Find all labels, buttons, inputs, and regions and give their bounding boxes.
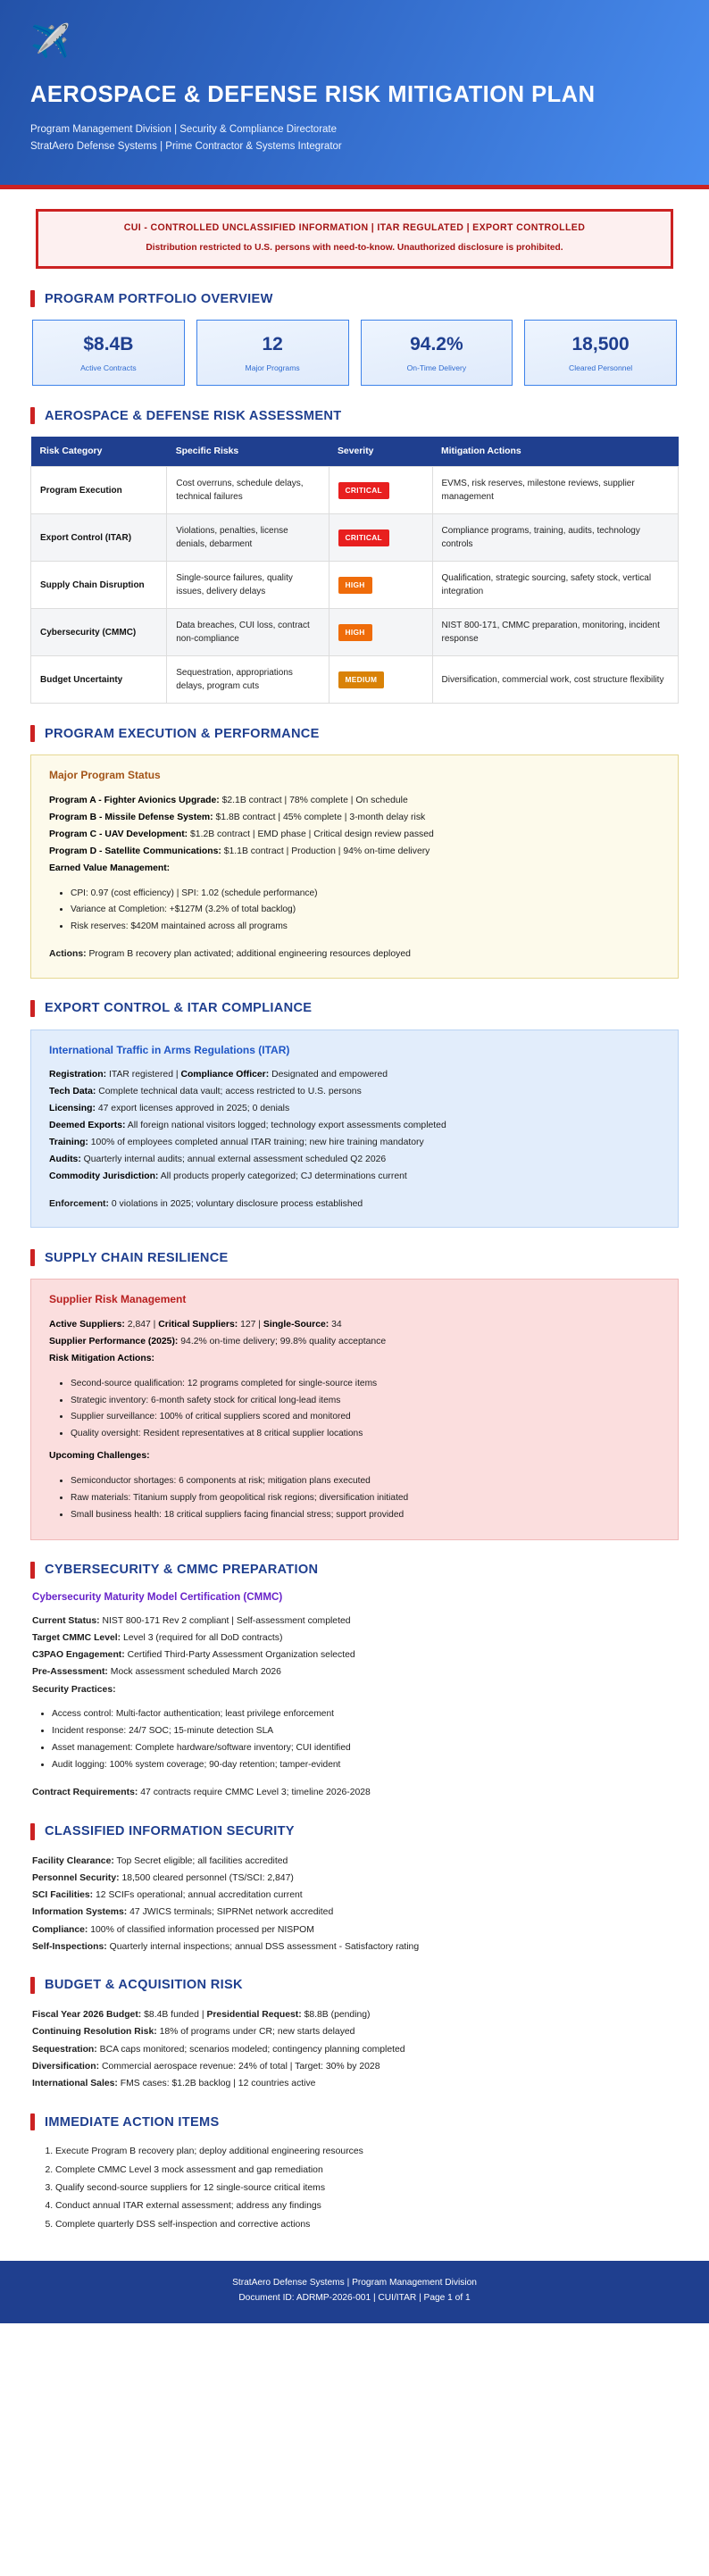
kv-label-2: Compliance Officer: xyxy=(180,1070,269,1080)
footer-organization: StratAero Defense Systems | Program Mana… xyxy=(9,2276,700,2291)
stat-value: 12 xyxy=(203,334,343,354)
cell-risk-category: Program Execution xyxy=(31,467,167,514)
itar-detail-lines: Registration: ITAR registered | Complian… xyxy=(49,1067,660,1186)
kv-label: Information Systems: xyxy=(32,1907,127,1917)
list-item: Variance at Completion: +$127M (3.2% of … xyxy=(71,902,660,919)
kv-value-2: $8.8B (pending) xyxy=(302,2010,371,2020)
section-accent-bar xyxy=(30,1562,35,1579)
page-title: AEROSPACE & DEFENSE RISK MITIGATION PLAN xyxy=(30,82,679,107)
list-item: Raw materials: Titanium supply from geop… xyxy=(71,1490,660,1507)
section-accent-bar xyxy=(30,1977,35,1994)
kv-value: All products properly categorized; CJ de… xyxy=(158,1171,406,1181)
kv-line: Diversification: Commercial aerospace re… xyxy=(32,2058,677,2075)
kv-line: Target CMMC Level: Level 3 (required for… xyxy=(32,1630,677,1646)
kv-line: Fiscal Year 2026 Budget: $8.4B funded | … xyxy=(32,2006,677,2023)
kv-value: $2.1B contract | 78% complete | On sched… xyxy=(220,796,408,805)
classified-detail-lines: Facility Clearance: Top Secret eligible;… xyxy=(30,1853,679,1956)
cui-banner-distribution: Distribution restricted to U.S. persons … xyxy=(62,242,647,255)
kv-line: Pre-Assessment: Mock assessment schedule… xyxy=(32,1663,677,1680)
kv-label-2: Critical Suppliers: xyxy=(158,1320,238,1330)
panel-major-program-status: Major Program Status Program A - Fighter… xyxy=(30,754,679,978)
status-badge: MEDIUM xyxy=(338,671,385,688)
stat-value: 18,500 xyxy=(530,334,671,354)
section-cybersecurity-cmmc: CYBERSECURITY & CMMC PREPARATION Cyberse… xyxy=(30,1562,679,1802)
panel-supplier-risk: Supplier Risk Management Active Supplier… xyxy=(30,1279,679,1539)
header-subtitle-line2: StratAero Defense Systems | Prime Contra… xyxy=(30,138,679,155)
list-item: Small business health: 18 critical suppl… xyxy=(71,1507,660,1524)
list-item: Access control: Multi-factor authenticat… xyxy=(52,1706,679,1723)
kv-value: Top Secret eligible; all facilities accr… xyxy=(114,1856,288,1866)
kv-label: Tech Data: xyxy=(49,1087,96,1096)
kv-value: 12 SCIFs operational; annual accreditati… xyxy=(93,1890,303,1900)
kv-line: Supplier Performance (2025): 94.2% on-ti… xyxy=(49,1334,660,1351)
list-item: Quality oversight: Resident representati… xyxy=(71,1426,660,1443)
subheading-cmmc: Cybersecurity Maturity Model Certificati… xyxy=(30,1591,679,1603)
kv-label: Pre-Assessment: xyxy=(32,1667,108,1677)
section-header: BUDGET & ACQUISITION RISK xyxy=(30,1977,679,1994)
kv-value: Program B recovery plan activated; addit… xyxy=(87,949,411,959)
table-row: Supply Chain Disruption Single-source fa… xyxy=(31,562,679,609)
kv-label: Deemed Exports: xyxy=(49,1121,125,1130)
footer-document-id: Document ID: ADRMP-2026-001 | CUI/ITAR |… xyxy=(9,2291,700,2306)
kv-label: Facility Clearance: xyxy=(32,1856,114,1866)
cell-severity: CRITICAL xyxy=(329,467,432,514)
kv-label: Security Practices: xyxy=(32,1685,116,1695)
section-risk-assessment: AEROSPACE & DEFENSE RISK ASSESSMENT Risk… xyxy=(30,407,679,704)
table-row: Cybersecurity (CMMC) Data breaches, CUI … xyxy=(31,609,679,656)
kv-label: Contract Requirements: xyxy=(32,1788,138,1797)
kv-label: Licensing: xyxy=(49,1104,96,1113)
kv-value: 100% of employees completed annual ITAR … xyxy=(88,1138,424,1147)
kv-value: Commercial aerospace revenue: 24% of tot… xyxy=(99,2062,380,2072)
section-title-export-control: EXPORT CONTROL & ITAR COMPLIANCE xyxy=(45,1002,312,1015)
table-row: Budget Uncertainty Sequestration, approp… xyxy=(31,656,679,704)
program-actions-line: Actions: Program B recovery plan activat… xyxy=(49,946,660,963)
kv-line: Deemed Exports: All foreign national vis… xyxy=(49,1118,660,1135)
kv-value: Certified Third-Party Assessment Organiz… xyxy=(125,1650,355,1660)
kv-label-2: Presidential Request: xyxy=(206,2010,301,2020)
kv-line: Tech Data: Complete technical data vault… xyxy=(49,1084,660,1101)
airplane-icon: ✈️ xyxy=(30,25,679,57)
kv-label-3: Single-Source: xyxy=(263,1320,329,1330)
page-body: CUI - CONTROLLED UNCLASSIFIED INFORMATIO… xyxy=(0,209,709,2234)
program-status-lines: Program A - Fighter Avionics Upgrade: $2… xyxy=(49,793,660,878)
cell-risk-category: Cybersecurity (CMMC) xyxy=(31,609,167,656)
stat-card-cleared-personnel: 18,500 Cleared Personnel xyxy=(524,320,677,386)
section-accent-bar xyxy=(30,407,35,424)
kv-value: 2,847 | xyxy=(125,1320,158,1330)
kv-value-2: 127 | xyxy=(238,1320,263,1330)
section-title-supply-chain: SUPPLY CHAIN RESILIENCE xyxy=(45,1252,229,1265)
panel-title: Major Program Status xyxy=(49,769,660,781)
cell-mitigation: Compliance programs, training, audits, t… xyxy=(432,514,679,562)
kv-label: Registration: xyxy=(49,1070,106,1080)
supplier-detail-lines: Active Suppliers: 2,847 | Critical Suppl… xyxy=(49,1317,660,1368)
kv-label: Fiscal Year 2026 Budget: xyxy=(32,2010,141,2020)
kv-label: Diversification: xyxy=(32,2062,99,2072)
section-accent-bar xyxy=(30,1823,35,1840)
list-item: Semiconductor shortages: 6 components at… xyxy=(71,1473,660,1490)
upcoming-challenges-heading: Upcoming Challenges: xyxy=(49,1448,660,1465)
section-title-portfolio: PROGRAM PORTFOLIO OVERVIEW xyxy=(45,293,273,306)
security-practices-bullet-list: Access control: Multi-factor authenticat… xyxy=(30,1706,679,1774)
cell-specific-risks: Cost overruns, schedule delays, technica… xyxy=(167,467,329,514)
kv-line: Training: 100% of employees completed an… xyxy=(49,1135,660,1152)
kv-label: Commodity Jurisdiction: xyxy=(49,1171,158,1181)
section-title-cybersecurity: CYBERSECURITY & CMMC PREPARATION xyxy=(45,1563,318,1577)
kv-value: $8.4B funded | xyxy=(141,2010,206,2020)
list-item: Qualify second-source suppliers for 12 s… xyxy=(55,2180,679,2197)
section-program-execution: PROGRAM EXECUTION & PERFORMANCE Major Pr… xyxy=(30,725,679,978)
kv-value-2: Designated and empowered xyxy=(269,1070,388,1080)
list-item: Risk reserves: $420M maintained across a… xyxy=(71,919,660,936)
section-header: AEROSPACE & DEFENSE RISK ASSESSMENT xyxy=(30,407,679,424)
section-header: IMMEDIATE ACTION ITEMS xyxy=(30,2113,679,2130)
kv-line: Continuing Resolution Risk: 18% of progr… xyxy=(32,2023,677,2040)
kv-line: Compliance: 100% of classified informati… xyxy=(32,1922,677,1938)
kv-value: 47 contracts require CMMC Level 3; timel… xyxy=(138,1788,370,1797)
stat-card-active-contracts: $8.4B Active Contracts xyxy=(32,320,185,386)
kv-value: 47 JWICS terminals; SIPRNet network accr… xyxy=(127,1907,333,1917)
kv-value: $1.8B contract | 45% complete | 3-month … xyxy=(213,813,426,822)
kv-value: BCA caps monitored; scenarios modeled; c… xyxy=(97,2045,405,2055)
kv-line: Earned Value Management: xyxy=(49,861,660,878)
kv-line: C3PAO Engagement: Certified Third-Party … xyxy=(32,1646,677,1663)
kv-value: Mock assessment scheduled March 2026 xyxy=(108,1667,281,1677)
kv-label: Enforcement: xyxy=(49,1199,109,1209)
kv-value: $1.2B contract | EMD phase | Critical de… xyxy=(188,829,434,839)
kv-label: Risk Mitigation Actions: xyxy=(49,1354,154,1363)
budget-detail-lines: Fiscal Year 2026 Budget: $8.4B funded | … xyxy=(30,2006,679,2092)
stat-value: $8.4B xyxy=(38,334,179,354)
section-accent-bar xyxy=(30,290,35,307)
kv-label: Active Suppliers: xyxy=(49,1320,125,1330)
cell-mitigation: NIST 800-171, CMMC preparation, monitori… xyxy=(432,609,679,656)
stat-label: On-Time Delivery xyxy=(367,363,507,372)
list-item: CPI: 0.97 (cost efficiency) | SPI: 1.02 … xyxy=(71,886,660,903)
header-subtitle-line1: Program Management Division | Security &… xyxy=(30,121,679,138)
kv-value: Level 3 (required for all DoD contracts) xyxy=(121,1633,282,1643)
status-badge: HIGH xyxy=(338,577,372,593)
kv-line: Security Practices: xyxy=(32,1681,677,1698)
contract-requirements-line: Contract Requirements: 47 contracts requ… xyxy=(30,1784,679,1801)
kv-label: Supplier Performance (2025): xyxy=(49,1337,178,1346)
kv-value: Quarterly internal inspections; annual D… xyxy=(107,1942,419,1952)
cell-severity: HIGH xyxy=(329,562,432,609)
section-supply-chain: SUPPLY CHAIN RESILIENCE Supplier Risk Ma… xyxy=(30,1249,679,1539)
kv-label: Continuing Resolution Risk: xyxy=(32,2027,157,2037)
kv-value: Complete technical data vault; access re… xyxy=(96,1087,361,1096)
panel-title: Supplier Risk Management xyxy=(49,1293,660,1305)
stat-card-group: $8.4B Active Contracts 12 Major Programs… xyxy=(30,320,679,386)
section-accent-bar xyxy=(30,2113,35,2130)
kv-label: Upcoming Challenges: xyxy=(49,1451,150,1461)
cmmc-detail-lines: Current Status: NIST 800-171 Rev 2 compl… xyxy=(30,1613,679,1698)
document-header: ✈️ AEROSPACE & DEFENSE RISK MITIGATION P… xyxy=(0,0,709,189)
kv-line: International Sales: FMS cases: $1.2B ba… xyxy=(32,2075,677,2092)
section-title-risk-assessment: AEROSPACE & DEFENSE RISK ASSESSMENT xyxy=(45,410,341,423)
kv-value-3: 34 xyxy=(329,1320,341,1330)
kv-label: Program C - UAV Development: xyxy=(49,829,188,839)
section-title-program-execution: PROGRAM EXECUTION & PERFORMANCE xyxy=(45,728,320,741)
cell-specific-risks: Sequestration, appropriations delays, pr… xyxy=(167,656,329,704)
kv-line: Risk Mitigation Actions: xyxy=(49,1351,660,1368)
kv-label: Personnel Security: xyxy=(32,1873,120,1883)
stat-label: Cleared Personnel xyxy=(530,363,671,372)
column-header-severity: Severity xyxy=(329,437,432,467)
list-item: Second-source qualification: 12 programs… xyxy=(71,1376,660,1393)
column-header-specific-risks: Specific Risks xyxy=(167,437,329,467)
kv-label: C3PAO Engagement: xyxy=(32,1650,125,1660)
kv-value: 100% of classified information processed… xyxy=(88,1925,314,1935)
kv-label: Program B - Missile Defense System: xyxy=(49,813,213,822)
cell-risk-category: Supply Chain Disruption xyxy=(31,562,167,609)
cell-risk-category: Budget Uncertainty xyxy=(31,656,167,704)
list-item: Complete quarterly DSS self-inspection a… xyxy=(55,2216,679,2234)
cell-mitigation: Diversification, commercial work, cost s… xyxy=(432,656,679,704)
list-item: Supplier surveillance: 100% of critical … xyxy=(71,1409,660,1426)
kv-line: Program C - UAV Development: $1.2B contr… xyxy=(49,827,660,844)
kv-label: Program D - Satellite Communications: xyxy=(49,846,221,856)
itar-enforcement-line: Enforcement: 0 violations in 2025; volun… xyxy=(49,1196,660,1213)
section-header: CLASSIFIED INFORMATION SECURITY xyxy=(30,1823,679,1840)
cell-mitigation: EVMS, risk reserves, milestone reviews, … xyxy=(432,467,679,514)
kv-value: 0 violations in 2025; voluntary disclosu… xyxy=(109,1199,363,1209)
kv-line: Self-Inspections: Quarterly internal ins… xyxy=(32,1938,677,1955)
kv-line: Current Status: NIST 800-171 Rev 2 compl… xyxy=(32,1613,677,1630)
kv-label: Current Status: xyxy=(32,1616,100,1626)
section-header: CYBERSECURITY & CMMC PREPARATION xyxy=(30,1562,679,1579)
kv-line: Information Systems: 47 JWICS terminals;… xyxy=(32,1904,677,1921)
cell-specific-risks: Single-source failures, quality issues, … xyxy=(167,562,329,609)
stat-card-major-programs: 12 Major Programs xyxy=(196,320,349,386)
section-classified-information-security: CLASSIFIED INFORMATION SECURITY Facility… xyxy=(30,1823,679,1956)
column-header-risk-category: Risk Category xyxy=(31,437,167,467)
mitigation-bullet-list: Second-source qualification: 12 programs… xyxy=(49,1376,660,1444)
kv-label: Earned Value Management: xyxy=(49,863,170,873)
action-items-list: Execute Program B recovery plan; deploy … xyxy=(30,2143,679,2233)
document-footer: StratAero Defense Systems | Program Mana… xyxy=(0,2261,709,2323)
kv-label: Self-Inspections: xyxy=(32,1942,107,1952)
risk-assessment-table: Risk Category Specific Risks Severity Mi… xyxy=(30,437,679,704)
kv-line: Personnel Security: 18,500 cleared perso… xyxy=(32,1870,677,1887)
section-budget-acquisition-risk: BUDGET & ACQUISITION RISK Fiscal Year 20… xyxy=(30,1977,679,2092)
status-badge: CRITICAL xyxy=(338,482,389,498)
kv-value: NIST 800-171 Rev 2 compliant | Self-asse… xyxy=(100,1616,351,1626)
list-item: Conduct annual ITAR external assessment;… xyxy=(55,2197,679,2215)
kv-label: International Sales: xyxy=(32,2079,118,2088)
kv-value: 94.2% on-time delivery; 99.8% quality ac… xyxy=(178,1337,386,1346)
kv-line: Program B - Missile Defense System: $1.8… xyxy=(49,810,660,827)
kv-label: SCI Facilities: xyxy=(32,1890,93,1900)
kv-line: Program D - Satellite Communications: $1… xyxy=(49,844,660,861)
kv-line: Active Suppliers: 2,847 | Critical Suppl… xyxy=(49,1317,660,1334)
kv-label: Program A - Fighter Avionics Upgrade: xyxy=(49,796,220,805)
table-row: Program Execution Cost overruns, schedul… xyxy=(31,467,679,514)
list-item: Audit logging: 100% system coverage; 90-… xyxy=(52,1757,679,1774)
kv-value: ITAR registered | xyxy=(106,1070,180,1080)
list-item: Execute Program B recovery plan; deploy … xyxy=(55,2143,679,2161)
kv-value: 47 export licenses approved in 2025; 0 d… xyxy=(96,1104,289,1113)
section-accent-bar xyxy=(30,1000,35,1017)
kv-value: 18,500 cleared personnel (TS/SCI: 2,847) xyxy=(120,1873,294,1883)
kv-line: Sequestration: BCA caps monitored; scena… xyxy=(32,2041,677,2058)
section-header: SUPPLY CHAIN RESILIENCE xyxy=(30,1249,679,1266)
section-title-classified: CLASSIFIED INFORMATION SECURITY xyxy=(45,1825,295,1838)
section-header: EXPORT CONTROL & ITAR COMPLIANCE xyxy=(30,1000,679,1017)
list-item: Incident response: 24/7 SOC; 15-minute d… xyxy=(52,1723,679,1740)
kv-label: Audits: xyxy=(49,1155,81,1164)
section-immediate-action-items: IMMEDIATE ACTION ITEMS Execute Program B… xyxy=(30,2113,679,2233)
challenges-bullet-list: Semiconductor shortages: 6 components at… xyxy=(49,1473,660,1524)
table-header-row: Risk Category Specific Risks Severity Mi… xyxy=(31,437,679,467)
kv-label: Compliance: xyxy=(32,1925,88,1935)
cell-severity: HIGH xyxy=(329,609,432,656)
section-header: PROGRAM PORTFOLIO OVERVIEW xyxy=(30,290,679,307)
cui-banner: CUI - CONTROLLED UNCLASSIFIED INFORMATIO… xyxy=(36,209,673,269)
cell-severity: CRITICAL xyxy=(329,514,432,562)
cell-severity: MEDIUM xyxy=(329,656,432,704)
cell-specific-risks: Violations, penalties, license denials, … xyxy=(167,514,329,562)
status-badge: CRITICAL xyxy=(338,529,389,546)
status-badge: HIGH xyxy=(338,624,372,640)
section-portfolio-overview: PROGRAM PORTFOLIO OVERVIEW $8.4B Active … xyxy=(30,290,679,386)
list-item: Strategic inventory: 6-month safety stoc… xyxy=(71,1393,660,1410)
cell-mitigation: Qualification, strategic sourcing, safet… xyxy=(432,562,679,609)
section-header: PROGRAM EXECUTION & PERFORMANCE xyxy=(30,725,679,742)
section-title-action-items: IMMEDIATE ACTION ITEMS xyxy=(45,2116,220,2130)
section-title-budget: BUDGET & ACQUISITION RISK xyxy=(45,1979,243,1992)
section-export-control: EXPORT CONTROL & ITAR COMPLIANCE Interna… xyxy=(30,1000,679,1229)
stat-card-on-time-delivery: 94.2% On-Time Delivery xyxy=(361,320,513,386)
kv-value: 18% of programs under CR; new starts del… xyxy=(157,2027,355,2037)
stat-label: Major Programs xyxy=(203,363,343,372)
stat-label: Active Contracts xyxy=(38,363,179,372)
cell-risk-category: Export Control (ITAR) xyxy=(31,514,167,562)
section-accent-bar xyxy=(30,725,35,742)
kv-label: Training: xyxy=(49,1138,88,1147)
section-accent-bar xyxy=(30,1249,35,1266)
cell-specific-risks: Data breaches, CUI loss, contract non-co… xyxy=(167,609,329,656)
kv-line: Facility Clearance: Top Secret eligible;… xyxy=(32,1853,677,1870)
kv-line: Audits: Quarterly internal audits; annua… xyxy=(49,1152,660,1169)
evm-bullet-list: CPI: 0.97 (cost efficiency) | SPI: 1.02 … xyxy=(49,886,660,937)
cui-banner-classification: CUI - CONTROLLED UNCLASSIFIED INFORMATIO… xyxy=(62,221,647,235)
kv-label: Actions: xyxy=(49,949,87,959)
list-item: Complete CMMC Level 3 mock assessment an… xyxy=(55,2162,679,2180)
panel-title: International Traffic in Arms Regulation… xyxy=(49,1044,660,1056)
kv-value: FMS cases: $1.2B backlog | 12 countries … xyxy=(118,2079,316,2088)
panel-itar: International Traffic in Arms Regulation… xyxy=(30,1030,679,1229)
kv-label: Target CMMC Level: xyxy=(32,1633,121,1643)
kv-value: Quarterly internal audits; annual extern… xyxy=(81,1155,386,1164)
list-item: Asset management: Complete hardware/soft… xyxy=(52,1740,679,1757)
table-row: Export Control (ITAR) Violations, penalt… xyxy=(31,514,679,562)
stat-value: 94.2% xyxy=(367,334,507,354)
kv-label: Sequestration: xyxy=(32,2045,97,2055)
kv-line: Registration: ITAR registered | Complian… xyxy=(49,1067,660,1084)
kv-value: $1.1B contract | Production | 94% on-tim… xyxy=(221,846,430,856)
kv-value: All foreign national visitors logged; te… xyxy=(125,1121,446,1130)
kv-line: SCI Facilities: 12 SCIFs operational; an… xyxy=(32,1887,677,1904)
column-header-mitigation: Mitigation Actions xyxy=(432,437,679,467)
kv-line: Licensing: 47 export licenses approved i… xyxy=(49,1101,660,1118)
kv-line: Program A - Fighter Avionics Upgrade: $2… xyxy=(49,793,660,810)
kv-line: Commodity Jurisdiction: All products pro… xyxy=(49,1169,660,1186)
